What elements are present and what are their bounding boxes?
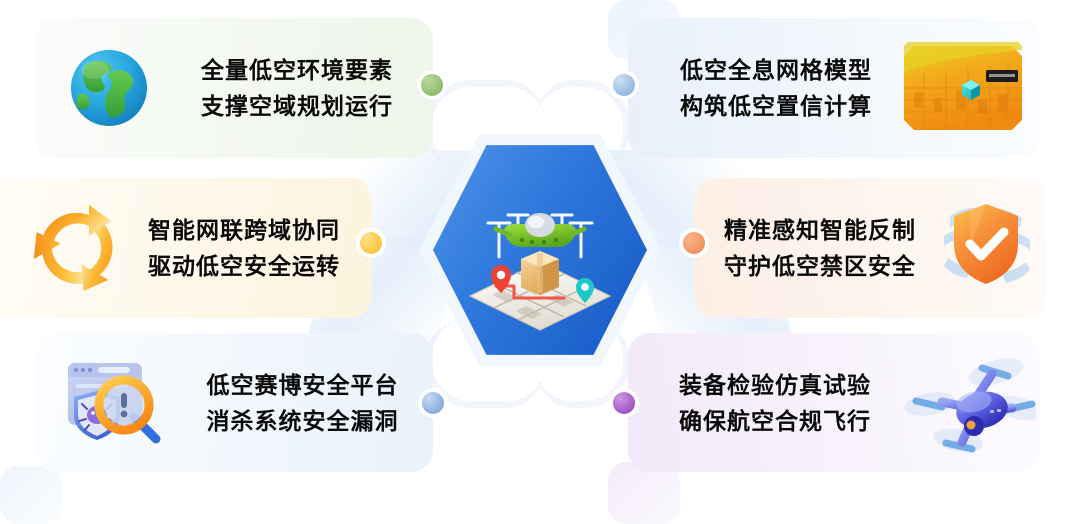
card-line-2: 消杀系统安全漏洞: [207, 406, 399, 436]
card-line-2: 支撑空域规划运行: [201, 91, 393, 121]
card-intelligent-connected-collaboration[interactable]: 智能网联跨域协同 驱动低空安全运转: [0, 178, 372, 318]
decorative-square-bottom-left: [0, 466, 62, 524]
card-line-1: 全量低空环境要素: [201, 55, 393, 85]
card-line-2: 确保航空合规飞行: [679, 406, 871, 436]
connector-dot-card-6[interactable]: [613, 392, 635, 414]
city-grid-model-icon: [900, 42, 1026, 134]
card-text-block: 精准感知智能反制 守护低空禁区安全: [716, 215, 924, 281]
center-hexagon[interactable]: [433, 143, 647, 357]
card-line-1: 低空全息网格模型: [680, 55, 872, 85]
card-text-block: 全量低空环境要素 支撑空域规划运行: [167, 55, 427, 121]
card-precision-sensing-countermeasure[interactable]: 精准感知智能反制 守护低空禁区安全: [694, 178, 1046, 318]
card-line-2: 守护低空禁区安全: [724, 251, 916, 281]
card-line-1: 智能网联跨域协同: [148, 215, 340, 245]
card-low-altitude-environment[interactable]: 全量低空环境要素 支撑空域规划运行: [35, 18, 433, 158]
delivery-drone-map-icon: [433, 143, 647, 357]
shield-check-icon: [930, 192, 1042, 304]
card-holographic-grid-model[interactable]: 低空全息网格模型 构筑低空置信计算: [628, 18, 1040, 158]
connector-dot-card-1[interactable]: [421, 74, 443, 96]
card-line-1: 低空赛博安全平台: [207, 370, 399, 400]
card-text-block: 装备检验仿真试验 确保航空合规飞行: [660, 370, 890, 436]
card-line-1: 精准感知智能反制: [724, 215, 916, 245]
card-equipment-simulation-test[interactable]: 装备检验仿真试验 确保航空合规飞行: [628, 333, 1040, 472]
card-line-2: 构筑低空置信计算: [680, 91, 872, 121]
browser-shield-magnifier-icon: [62, 353, 172, 453]
connector-dot-card-5[interactable]: [422, 392, 444, 414]
card-cyber-security-platform[interactable]: 低空赛博安全平台 消杀系统安全漏洞: [36, 333, 433, 472]
cycle-arrows-icon: [22, 193, 132, 303]
card-text-block: 低空全息网格模型 构筑低空置信计算: [658, 55, 894, 121]
card-text-block: 智能网联跨域协同 驱动低空安全运转: [138, 215, 366, 281]
connector-dot-card-2[interactable]: [613, 74, 635, 96]
card-line-1: 装备检验仿真试验: [679, 370, 871, 400]
quadcopter-drone-icon: [896, 348, 1036, 458]
card-text-block: 低空赛博安全平台 消杀系统安全漏洞: [178, 370, 427, 436]
infographic-canvas: 全量低空环境要素 支撑空域规划运行 低空全息网格模型 构筑低空置信计算: [0, 0, 1080, 524]
connector-dot-card-4[interactable]: [683, 232, 705, 254]
connector-dot-card-3[interactable]: [360, 232, 382, 254]
globe-earth-icon: [57, 36, 161, 140]
card-line-2: 驱动低空安全运转: [148, 251, 340, 281]
